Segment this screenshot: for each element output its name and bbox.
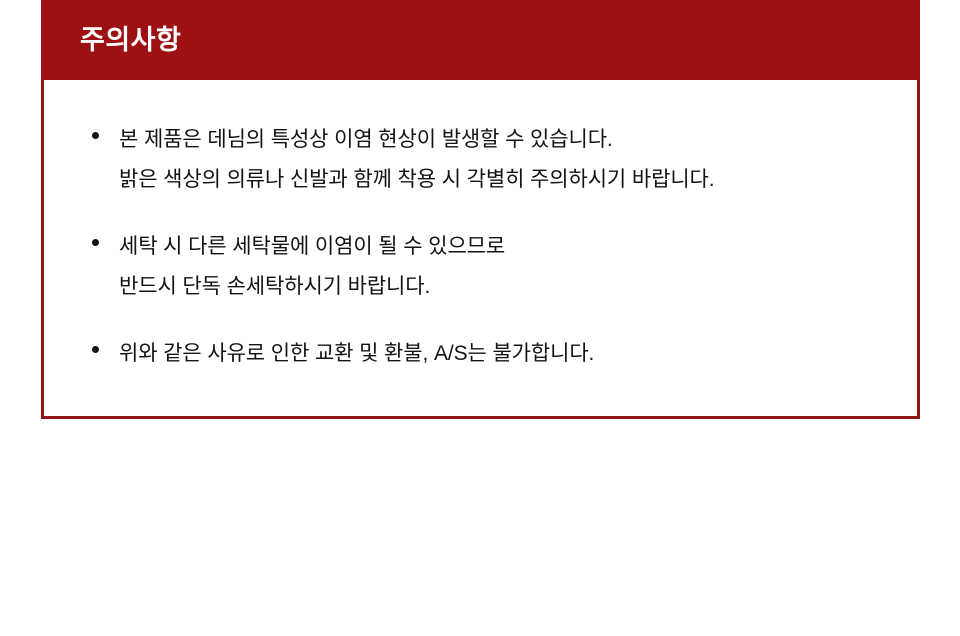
bullet-dot-icon xyxy=(92,346,99,353)
notice-header: 주의사항 xyxy=(41,0,920,80)
notice-card: 주의사항 본 제품은 데님의 특성상 이염 현상이 발생할 수 있습니다. 밝은… xyxy=(41,0,920,419)
notice-title: 주의사항 xyxy=(80,27,181,54)
list-item: 본 제품은 데님의 특성상 이염 현상이 발생할 수 있습니다. 밝은 색상의 … xyxy=(88,120,887,200)
notice-page: 주의사항 본 제품은 데님의 특성상 이염 현상이 발생할 수 있습니다. 밝은… xyxy=(0,0,960,636)
bullet-dot-icon xyxy=(92,239,99,246)
list-item: 세탁 시 다른 세탁물에 이염이 될 수 있으므로 반드시 단독 손세탁하시기 … xyxy=(88,227,887,307)
list-item-line: 반드시 단독 손세탁하시기 바랍니다. xyxy=(119,267,887,307)
list-item-line: 본 제품은 데님의 특성상 이염 현상이 발생할 수 있습니다. xyxy=(119,120,887,160)
list-item-line: 위와 같은 사유로 인한 교환 및 환불, A/S는 불가합니다. xyxy=(119,334,887,374)
notice-body: 본 제품은 데님의 특성상 이염 현상이 발생할 수 있습니다. 밝은 색상의 … xyxy=(41,80,920,419)
list-item-line: 밝은 색상의 의류나 신발과 함께 착용 시 각별히 주의하시기 바랍니다. xyxy=(119,160,887,200)
notice-bullet-list: 본 제품은 데님의 특성상 이염 현상이 발생할 수 있습니다. 밝은 색상의 … xyxy=(88,120,887,374)
list-item: 위와 같은 사유로 인한 교환 및 환불, A/S는 불가합니다. xyxy=(88,334,887,374)
bullet-dot-icon xyxy=(92,132,99,139)
list-item-line: 세탁 시 다른 세탁물에 이염이 될 수 있으므로 xyxy=(119,227,887,267)
